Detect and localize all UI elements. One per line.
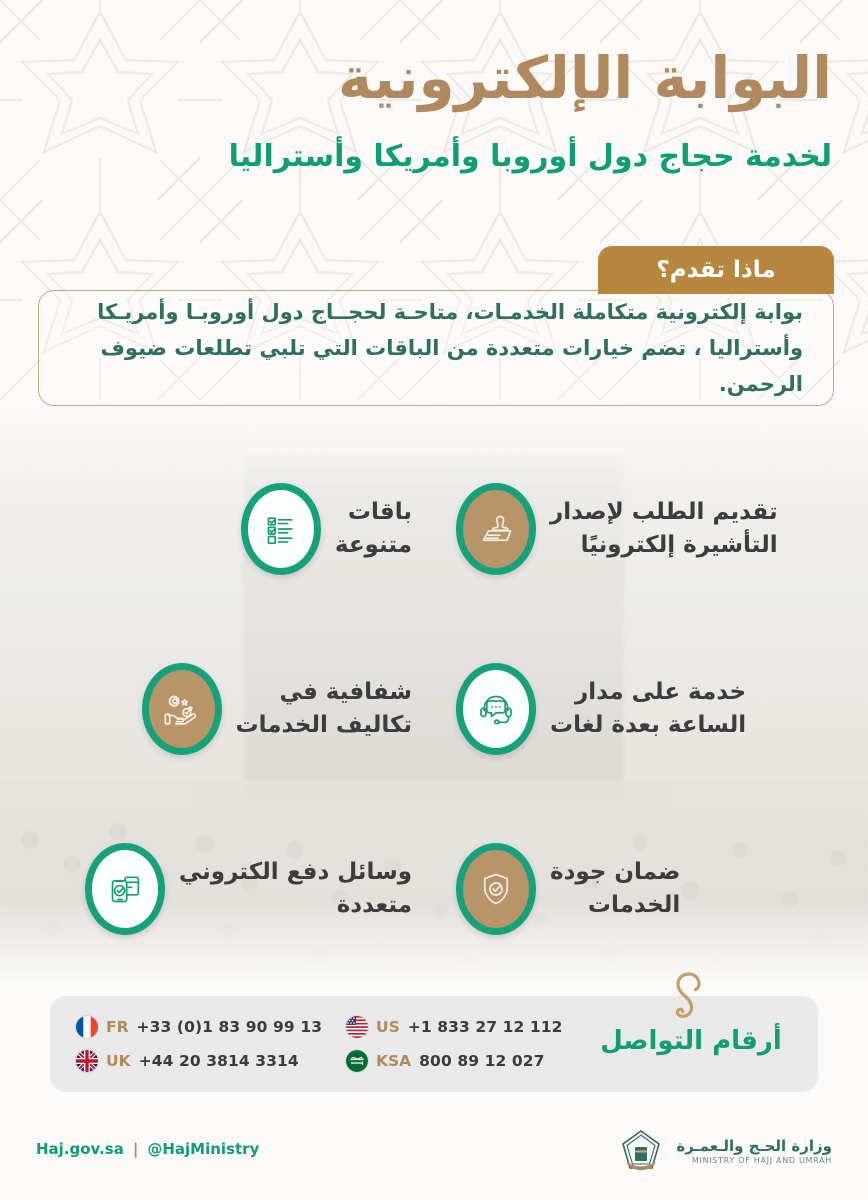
- social-handle-link[interactable]: @HajMinistry: [147, 1140, 259, 1158]
- contact-numbers-list: FR +33 (0)1 83 90 99 13: [76, 1010, 616, 1078]
- contact-number-us[interactable]: US +1 833 27 12 112: [346, 1010, 616, 1044]
- feature-quality-guarantee[interactable]: ضمان جودة الخدمات: [434, 824, 868, 954]
- stamp-icon: [456, 483, 536, 575]
- feature-label: تقديم الطلب لإصدار التأشيرة إلكترونيًا: [550, 496, 778, 561]
- footer: Haj.gov.sa | @HajMinistry وزارة الحـج وا…: [0, 1108, 868, 1200]
- flag-france-icon: [76, 1016, 98, 1038]
- features-row-1: تقديم الطلب لإصدار التأشيرة إلكترونيًا: [0, 464, 868, 594]
- contact-panel: FR +33 (0)1 83 90 99 13: [50, 996, 818, 1092]
- ministry-name-english: MINISTRY OF HAJJ AND UMRAH: [676, 1157, 832, 1166]
- feature-label: خدمة على مدار الساعة بعدة لغات: [550, 676, 746, 741]
- shield-check-icon: [456, 843, 536, 935]
- flag-uk-icon: [76, 1050, 98, 1072]
- ministry-emblem-icon: [614, 1128, 668, 1176]
- checklist-icon: [241, 483, 321, 575]
- header: البوابة الإلكترونية لخدمة حجاج دول أوروب…: [0, 0, 868, 230]
- offer-badge: ماذا تقدم؟: [598, 246, 834, 294]
- contact-title-block: أرقام التواصل: [586, 968, 796, 1088]
- feature-24h-support[interactable]: خدمة على مدار الساعة بعدة لغات: [434, 644, 868, 774]
- hand-gears-icon: [142, 663, 222, 755]
- feature-label: باقات متنوعة: [335, 496, 412, 561]
- ministry-logo-text: وزارة الحـج والـعمـرة MINISTRY OF HAJJ A…: [676, 1138, 832, 1165]
- feature-visa-application[interactable]: تقديم الطلب لإصدار التأشيرة إلكترونيًا: [434, 464, 868, 594]
- features-row-2: خدمة على مدار الساعة بعدة لغات: [0, 644, 868, 774]
- headset-support-icon: [456, 663, 536, 755]
- contact-title: أرقام التواصل: [586, 1026, 796, 1056]
- infographic-page: البوابة الإلكترونية لخدمة حجاج دول أوروب…: [0, 0, 868, 1200]
- features-row-3: ضمان جودة الخدمات وسائل دفع الكتروني متع…: [0, 824, 868, 954]
- contact-number-fr[interactable]: FR +33 (0)1 83 90 99 13: [76, 1010, 346, 1044]
- contact-number-uk[interactable]: UK +44 20 3814 3314: [76, 1044, 346, 1078]
- page-subtitle: لخدمة حجاج دول أوروبا وأمريكا وأستراليا: [229, 140, 832, 175]
- website-link[interactable]: Haj.gov.sa: [36, 1140, 124, 1158]
- offer-description-line-2: وأستراليا ، تضم خيارات متعددة من الباقات…: [69, 330, 803, 402]
- ministry-name-arabic: وزارة الحـج والـعمـرة: [676, 1138, 832, 1155]
- feature-payment-methods[interactable]: وسائل دفع الكتروني متعددة: [0, 824, 434, 954]
- telephone-handset-icon: [659, 968, 723, 1030]
- offer-description-line-1: بوابة إلكترونية متكاملة الخدمـات، متاحـة…: [69, 294, 803, 330]
- page-title: البوابة الإلكترونية: [338, 48, 832, 109]
- offer-description: بوابة إلكترونية متكاملة الخدمـات، متاحـة…: [69, 294, 803, 402]
- feature-cost-transparency[interactable]: شفافية في تكاليف الخدمات: [0, 644, 434, 774]
- features-grid: تقديم الطلب لإصدار التأشيرة إلكترونيًا: [0, 452, 868, 972]
- feature-packages[interactable]: باقات متنوعة: [0, 464, 434, 594]
- footer-links: Haj.gov.sa | @HajMinistry: [36, 1140, 259, 1158]
- contact-number-ksa[interactable]: KSA 800 89 12 027: [346, 1044, 616, 1078]
- feature-label: وسائل دفع الكتروني متعددة: [179, 856, 412, 921]
- ministry-logo: وزارة الحـج والـعمـرة MINISTRY OF HAJJ A…: [614, 1128, 832, 1176]
- feature-label: ضمان جودة الخدمات: [550, 856, 680, 921]
- flag-usa-icon: [346, 1016, 368, 1038]
- offer-box: بوابة إلكترونية متكاملة الخدمـات، متاحـة…: [38, 290, 834, 406]
- mobile-payment-icon: [85, 843, 165, 935]
- flag-saudi-arabia-icon: [346, 1050, 368, 1072]
- footer-separator: |: [133, 1140, 138, 1158]
- feature-label: شفافية في تكاليف الخدمات: [236, 676, 412, 741]
